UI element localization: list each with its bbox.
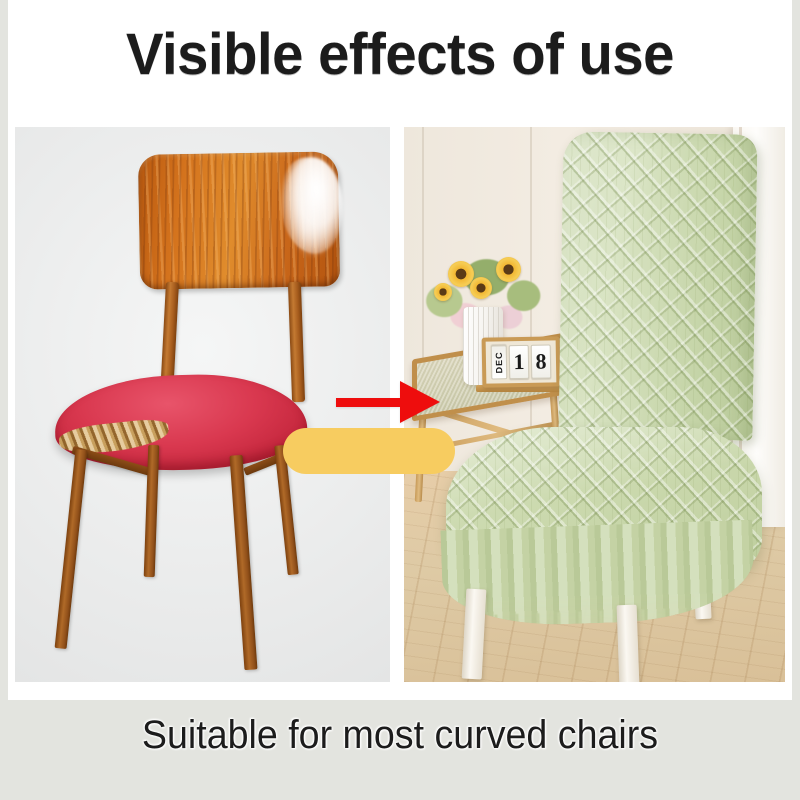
chair-finish-wear-spot bbox=[283, 157, 341, 257]
after-image-panel: DEC 1 8 bbox=[404, 127, 785, 682]
page-title: Visible effects of use bbox=[12, 24, 788, 86]
slipcover-backrest bbox=[558, 131, 757, 440]
page-caption: Suitable for most curved chairs bbox=[24, 712, 776, 758]
slipcover-ruffled-skirt bbox=[440, 520, 755, 629]
red-right-arrow-icon bbox=[336, 381, 440, 423]
calendar-digit-ones: 8 bbox=[531, 344, 552, 378]
slipcover-weave-pattern bbox=[558, 131, 757, 440]
sunflower-icon bbox=[470, 277, 492, 299]
sunflower-icon bbox=[496, 257, 521, 282]
calendar-month: DEC bbox=[491, 345, 508, 379]
calendar-digit-tens: 1 bbox=[509, 345, 530, 379]
covered-chair-leg-front-right bbox=[617, 605, 640, 682]
desk-calendar: DEC 1 8 bbox=[482, 336, 561, 387]
page-root: Visible effects of use bbox=[0, 0, 800, 800]
sunflower-icon bbox=[434, 283, 452, 301]
yellow-highlight-pill bbox=[283, 428, 455, 474]
before-image-panel bbox=[15, 127, 390, 682]
